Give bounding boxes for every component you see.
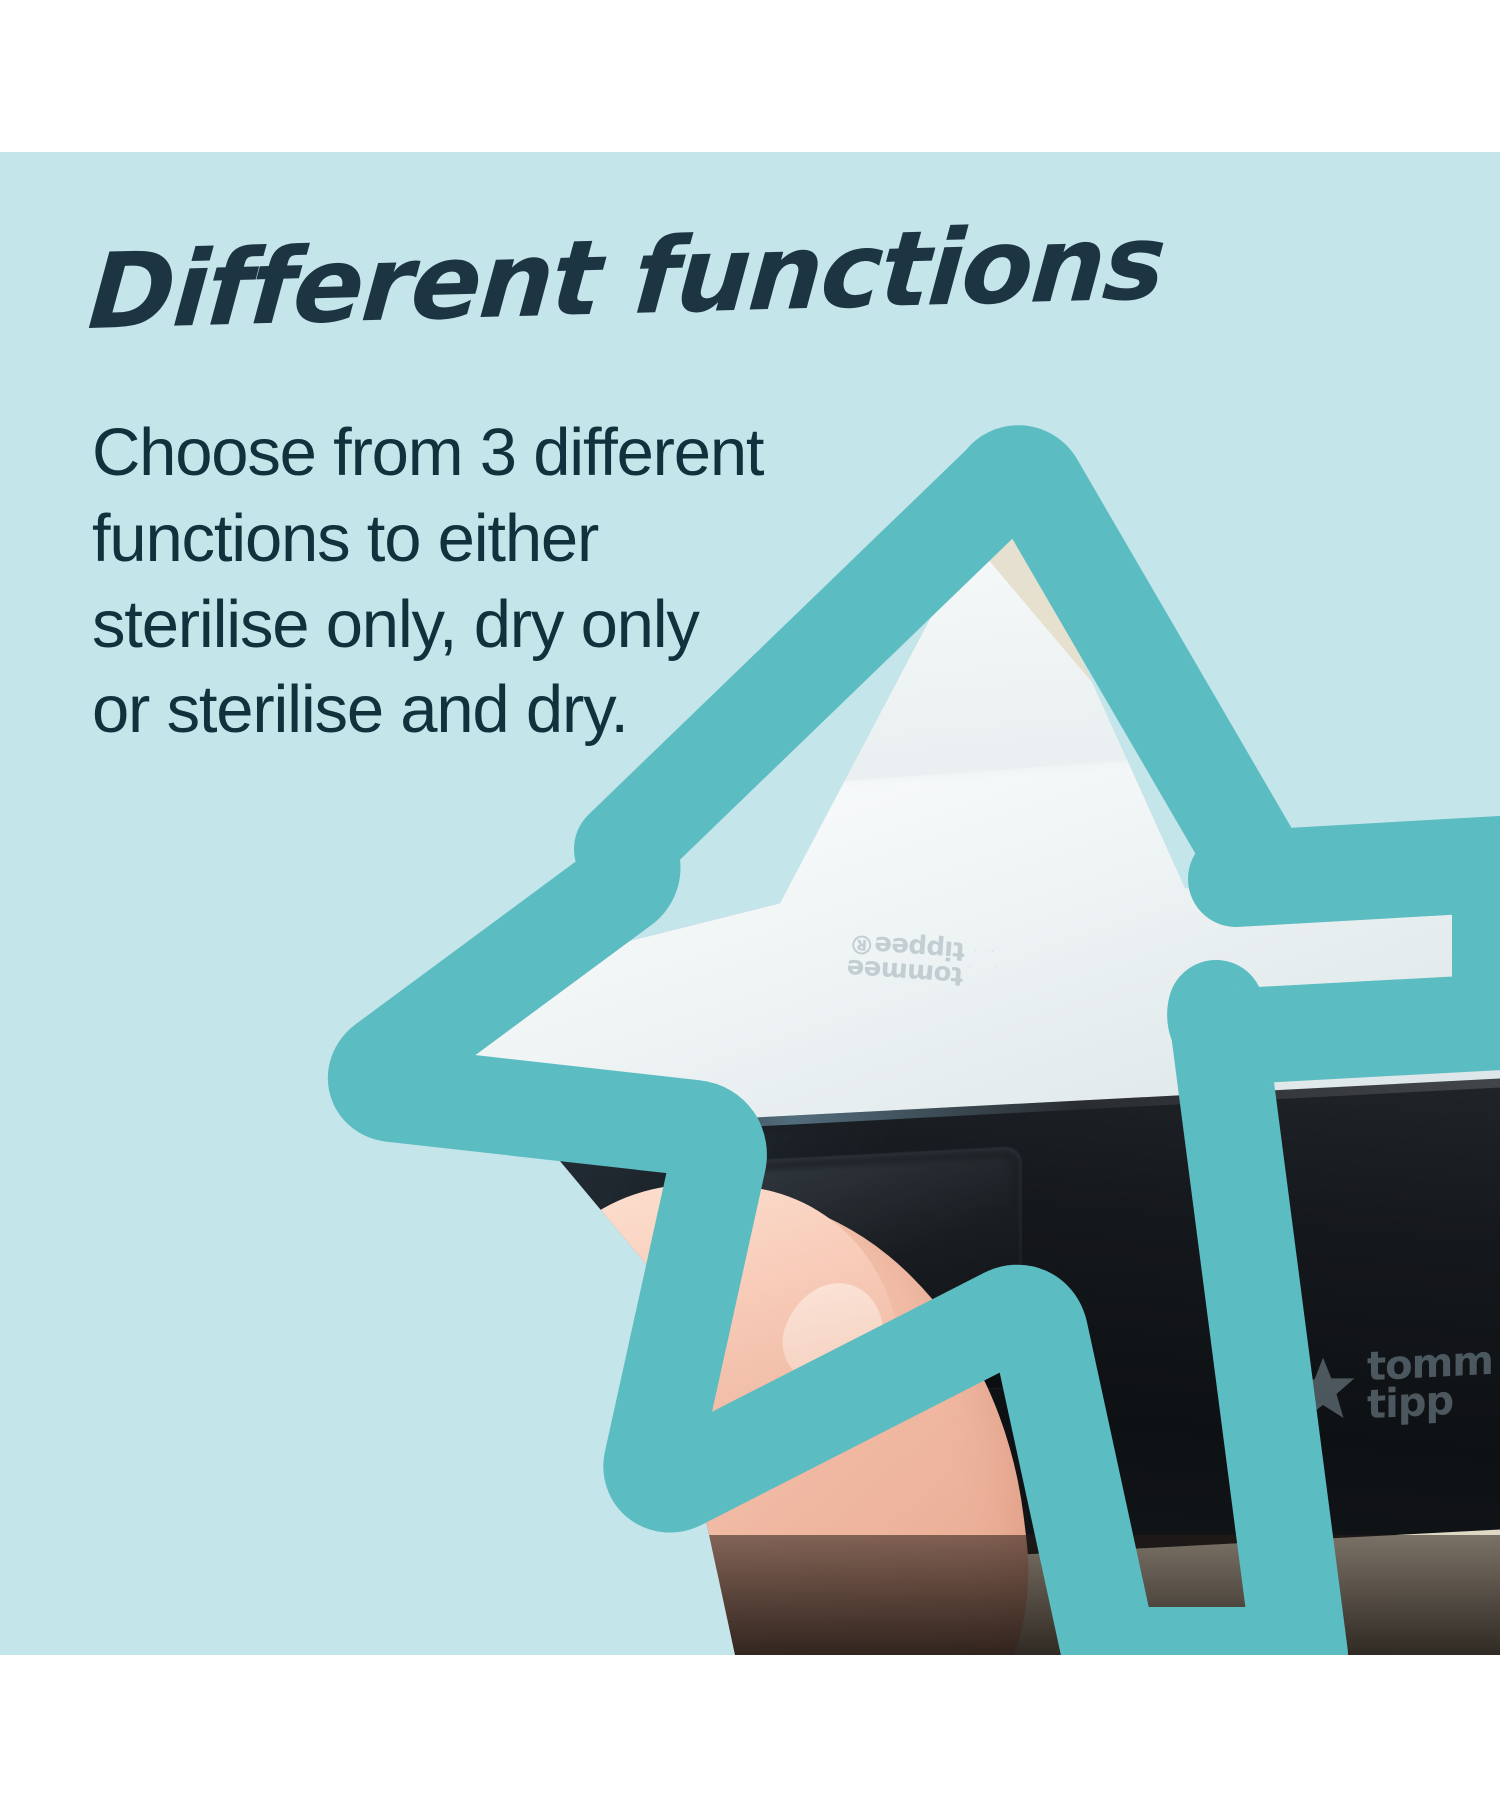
body-brand-wordmark: tomm tipp [1367,1342,1493,1425]
fingernail [771,1269,900,1402]
counter-shadow [450,1535,1500,1655]
star-filled-icon [1291,1355,1355,1422]
lid-brand-line2: tippee [873,929,965,965]
knuckle-shading [305,1421,574,1607]
lid-brand-wordmark: tommee tippee® [846,928,965,987]
body-copy: Choose from 3 different functions to eit… [92,410,932,753]
body-copy-line-3: sterilise only, dry only [92,582,932,668]
countertop-background: tommee tippee® ⏻ AUTO t [0,152,1500,1655]
body-brand-line2: tipp [1367,1378,1453,1429]
body-brand-logo: tomm tipp [1291,1342,1493,1429]
star-outline-icon [967,947,999,979]
body-copy-line-2: functions to either [92,496,932,582]
mint-info-panel: tommee tippee® ⏻ AUTO t [0,152,1500,1655]
lid-brand-logo: tommee tippee® [846,928,999,989]
body-copy-line-4: or sterilise and dry. [92,667,932,753]
body-copy-line-1: Choose from 3 different [92,410,932,496]
promo-graphic: tommee tippee® ⏻ AUTO t [0,0,1500,1811]
page-title: Different functions [83,213,1053,380]
registered-mark: ® [848,927,875,959]
product-photo: tommee tippee® ⏻ AUTO t [0,152,1500,1655]
